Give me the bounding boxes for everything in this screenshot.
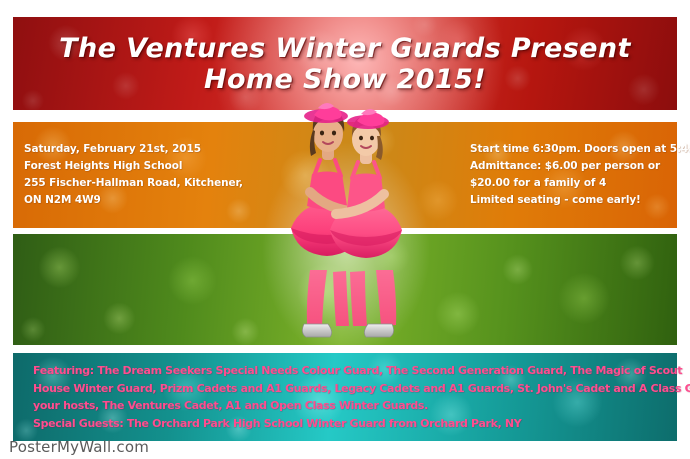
event-details-block: Saturday, February 21st, 2015 Forest Hei… bbox=[24, 141, 243, 209]
event-times: Start time 6:30pm. Doors open at 5:45pm bbox=[470, 141, 690, 158]
title-line-1: The Ventures Winter Guards Present bbox=[59, 33, 631, 64]
title-banner: The Ventures Winter Guards Present Home … bbox=[13, 17, 677, 110]
event-venue: Forest Heights High School bbox=[24, 158, 243, 175]
postermywall-watermark: PosterMyWall.com bbox=[9, 438, 149, 456]
left-performer-eye bbox=[320, 131, 324, 136]
admission-price-single: Admittance: $6.00 per person or bbox=[470, 158, 690, 175]
featuring-line-3: your hosts, The Ventures Cadet, A1 and O… bbox=[33, 397, 673, 415]
featuring-line-2: House Winter Guard, Prizm Cadets and A1 … bbox=[33, 380, 673, 398]
event-region: ON N2M 4W9 bbox=[24, 192, 243, 209]
admission-price-family: $20.00 for a family of 4 bbox=[470, 175, 690, 192]
right-performer-eye bbox=[359, 136, 363, 141]
admission-details-block: Start time 6:30pm. Doors open at 5:45pm … bbox=[470, 141, 690, 209]
seating-note: Limited seating - come early! bbox=[470, 192, 690, 209]
title-line-2: Home Show 2015! bbox=[204, 64, 486, 95]
poster-title: The Ventures Winter Guards Present Home … bbox=[13, 17, 677, 110]
right-performer-hat bbox=[347, 109, 389, 129]
left-performer-hat bbox=[304, 103, 348, 123]
featuring-line-1: Featuring: The Dream Seekers Special Nee… bbox=[33, 362, 673, 380]
performers-photo bbox=[258, 100, 434, 346]
left-performer-eye-2 bbox=[332, 131, 336, 136]
event-address: 255 Fischer-Hallman Road, Kitchener, bbox=[24, 175, 243, 192]
featuring-text-block: Featuring: The Dream Seekers Special Nee… bbox=[33, 362, 673, 432]
right-performer-eye-2 bbox=[370, 136, 374, 141]
left-performer-shoe bbox=[302, 324, 331, 337]
poster-canvas: The Ventures Winter Guards Present Home … bbox=[0, 0, 690, 459]
right-performer-leg bbox=[350, 271, 367, 326]
event-date: Saturday, February 21st, 2015 bbox=[24, 141, 243, 158]
right-performer-shoe bbox=[364, 324, 393, 337]
featuring-line-4: Special Guests: The Orchard Park High Sc… bbox=[33, 415, 673, 433]
